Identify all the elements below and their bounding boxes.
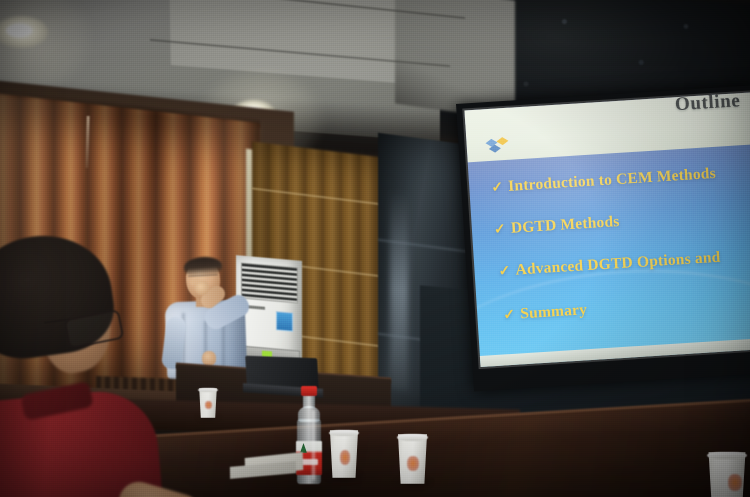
audience-member [0,236,185,497]
cup-print-design [340,450,351,464]
slide-bullet-1: ✓ Introduction to CEM Methods [491,162,750,197]
projection-screen: Outline ✓ Introduction to CEM Methods ✓ … [456,85,750,391]
bottle-shoulder [298,406,320,422]
bottle-neck [303,395,315,408]
checkmark-icon: ✓ [493,220,511,238]
ceiling-downlight-left-core [6,24,32,37]
water-bottle[interactable] [295,386,323,496]
cup-rim [707,452,747,459]
cup-rim [329,430,360,436]
marble-column-highlight [390,189,408,391]
slide-bullet-4-label: Summary [520,301,588,323]
checkmark-icon: ✓ [491,178,509,196]
paper-cup-center[interactable] [396,434,429,484]
slide-title: Outline [674,92,741,116]
cup-rim [198,388,217,392]
checkmark-icon: ✓ [498,262,516,280]
slide-bullet-2-label: DGTD Methods [510,213,620,238]
paper-cup-near-bottle[interactable] [328,430,360,478]
diamond-cluster-logo [484,133,515,157]
bottle-highlight [312,410,315,480]
bottle-cap[interactable] [301,386,317,396]
presentation-slide: Outline ✓ Introduction to CEM Methods ✓ … [464,92,750,367]
slide-bullet-4: ✓ Summary [503,290,750,325]
slide-bullet-2: ✓ DGTD Methods [493,204,750,239]
air-conditioner-energy-label [276,311,293,331]
cup-print-design [407,456,419,471]
slide-bullet-3: ✓ Advanced DGTD Options and [498,246,750,281]
conference-room-photo: Outline ✓ Introduction to CEM Methods ✓ … [0,0,750,497]
slide-bullet-list: ✓ Introduction to CEM Methods ✓ DGTD Met… [468,144,750,326]
slide-bullet-3-label: Advanced DGTD Options and [515,249,721,280]
paper-cup-right[interactable] [706,452,748,497]
cup-rim [397,434,429,441]
checkmark-icon: ✓ [503,306,521,324]
cup-print-design [205,401,211,409]
cup-print-design [728,474,742,491]
paper-cup-near-presenter[interactable] [198,388,218,418]
slide-bullet-1-label: Introduction to CEM Methods [508,165,717,196]
